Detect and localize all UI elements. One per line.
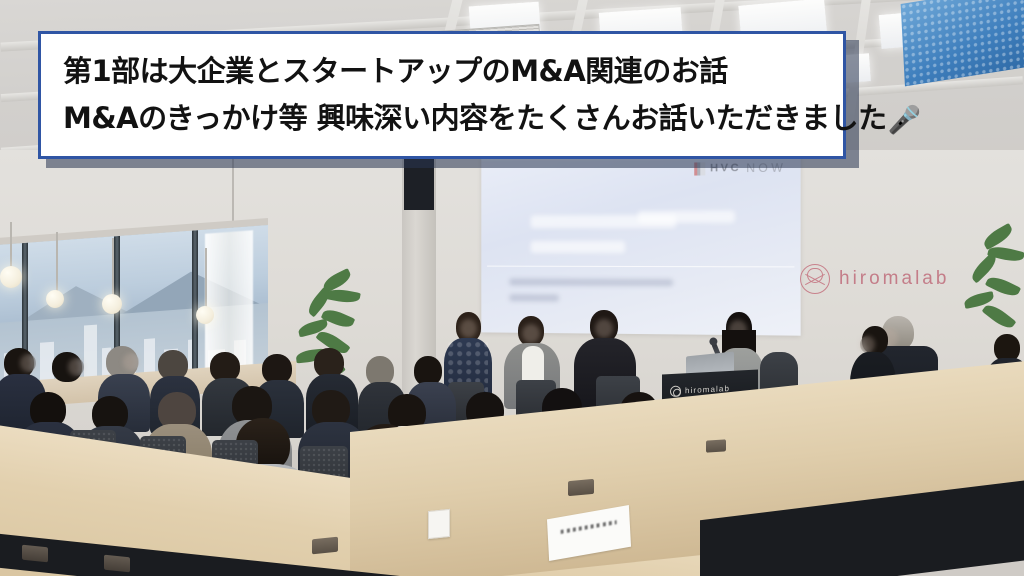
pendant-lamp	[0, 266, 22, 288]
projection-screen: HVC NOW	[481, 154, 800, 335]
caption-box: 第1部は大企業とスタートアップのM&A関連のお話 M&Aのきっかけ等 興味深い内…	[38, 31, 846, 159]
power-outlet	[568, 479, 594, 496]
power-outlet	[706, 439, 726, 452]
caption-line1-highlight: M&A関連のお話	[510, 54, 728, 88]
hiromalab-wall-logo-text: hiromalab	[839, 268, 949, 290]
pendant-lamp	[102, 294, 122, 314]
hiromalab-podium-mark-icon	[670, 386, 681, 398]
power-outlet	[312, 537, 338, 555]
power-outlet	[22, 545, 48, 563]
caption-line1-highlight-wrap: M&A関連のお話	[510, 48, 728, 95]
caption-line1-plain: 第1部は大企業とスタートアップの	[63, 48, 510, 95]
potted-plant-right	[962, 228, 1024, 348]
hiromalab-wall-logo: hiromalab	[800, 264, 949, 294]
caption-line2-text: M&Aのきっかけ等 興味深い内容をたくさんお話いただきました	[63, 95, 887, 142]
microphone-emoji-icon: 🎤	[888, 107, 921, 134]
hiromalab-mark-icon	[800, 264, 830, 294]
name-card	[428, 509, 450, 539]
acoustic-panel	[901, 0, 1024, 86]
power-outlet	[104, 555, 130, 573]
caption-line-2: M&Aのきっかけ等 興味深い内容をたくさんお話いただきました🎤	[63, 95, 843, 142]
screenshot-stage: HVC NOW hiromalab	[0, 0, 1024, 576]
pendant-lamp	[46, 290, 64, 308]
pendant-lamp	[196, 306, 214, 324]
caption-line-1: 第1部は大企業とスタートアップのM&A関連のお話	[63, 48, 843, 95]
